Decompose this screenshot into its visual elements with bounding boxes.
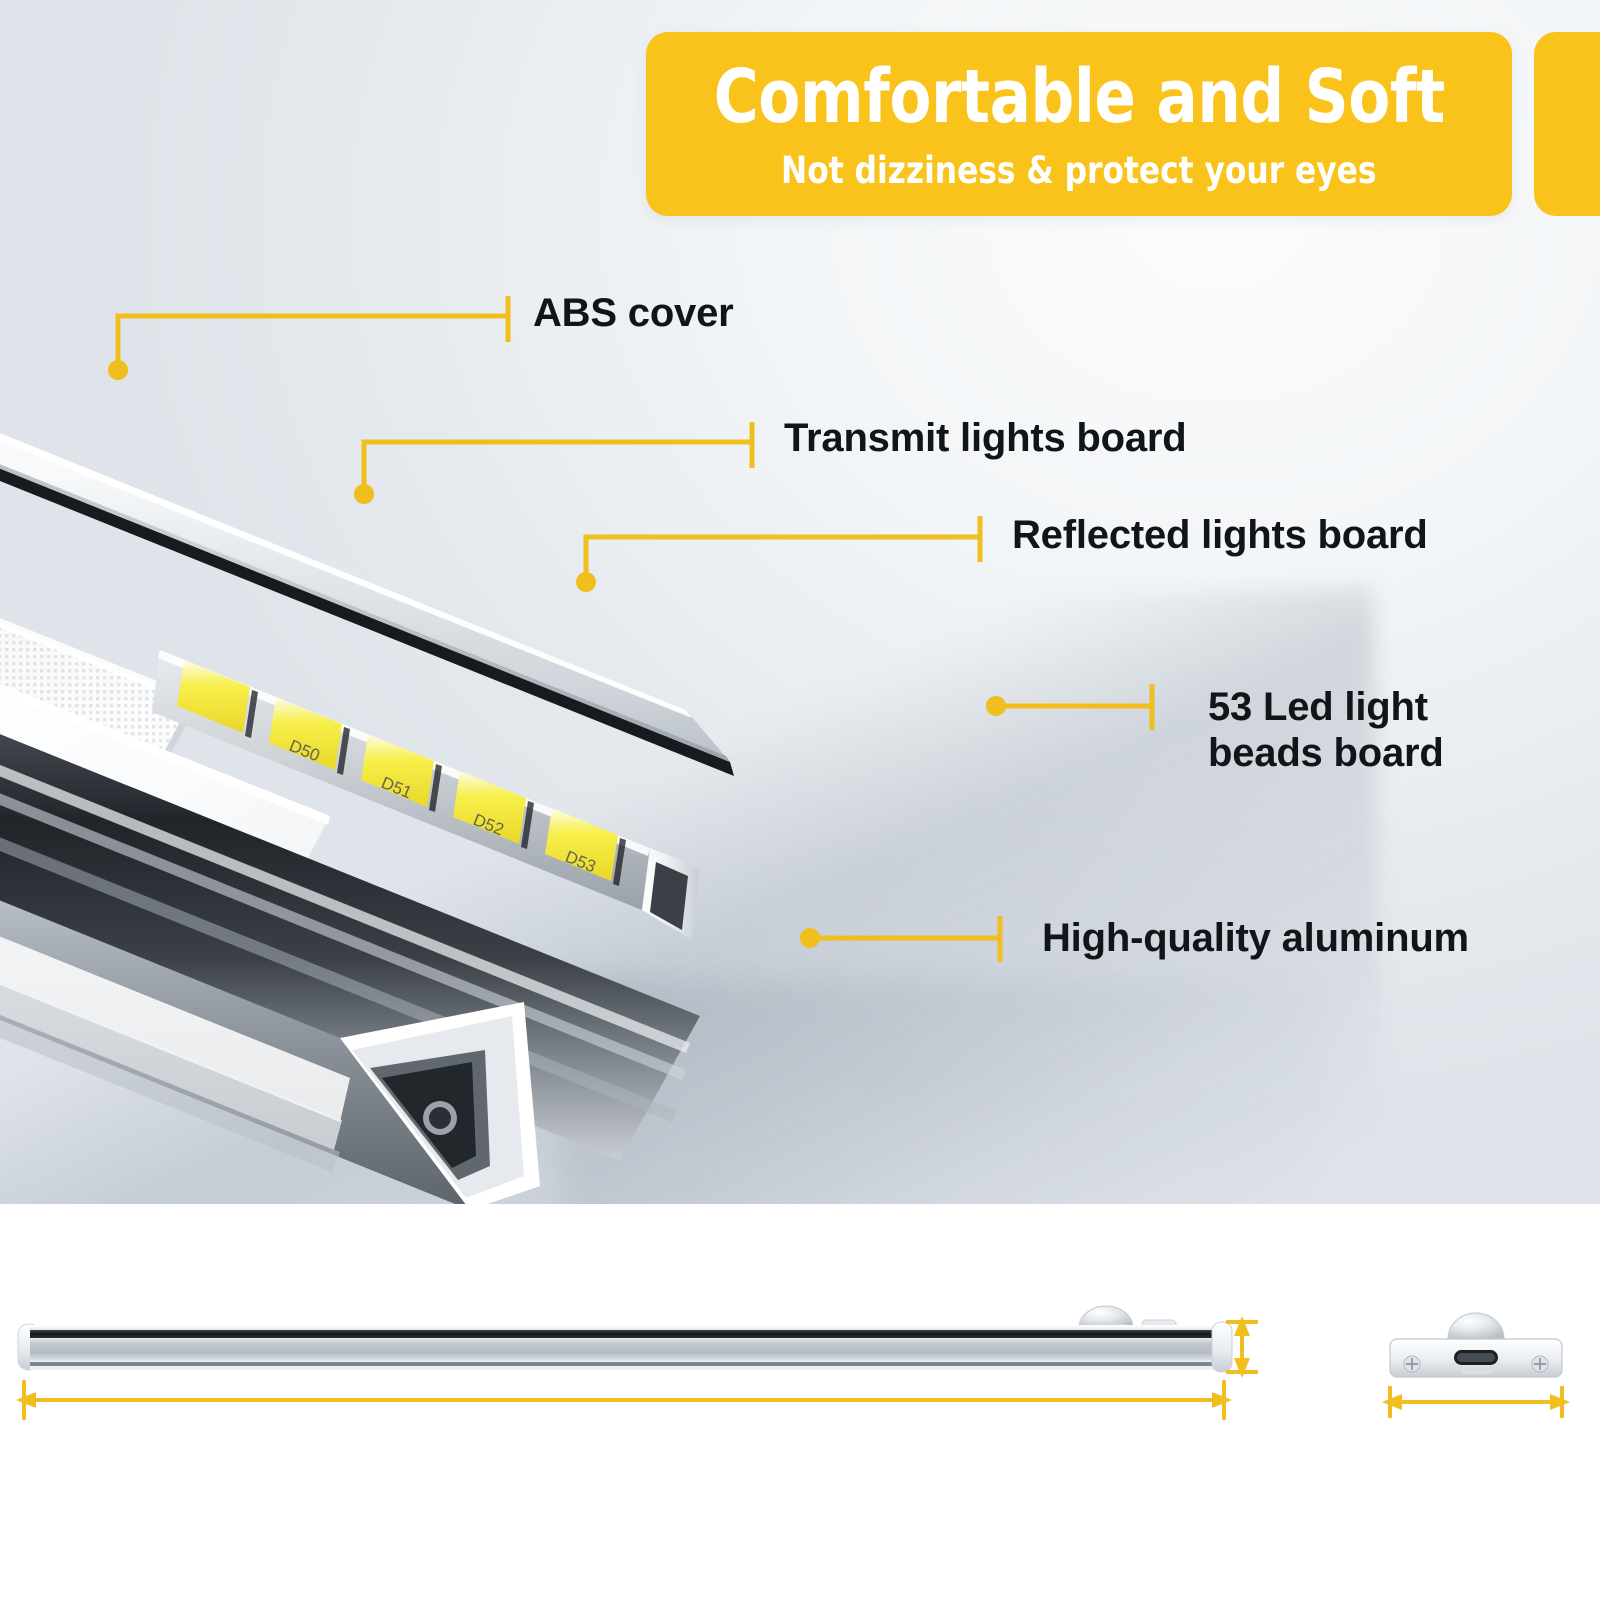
length-dimension: [16, 1380, 1232, 1420]
dimension-drawings: [0, 1204, 1600, 1600]
led-bar-side-profile: [18, 1306, 1232, 1372]
callout-label-reflected-board: Reflected lights board: [1012, 512, 1428, 558]
screw-head-icon: [1532, 1356, 1548, 1372]
dimension-panel: 310mm 40mm 9mm: [0, 1204, 1600, 1600]
dimension-arrow-icon: [1234, 1358, 1250, 1378]
callout-label-transmit-board: Transmit lights board: [784, 415, 1187, 461]
width-dimension: [1382, 1386, 1570, 1418]
next-banner-partial: [1534, 32, 1600, 216]
headline-banner: Comfortable and Soft Not dizziness & pro…: [646, 32, 1512, 216]
headline-title: Comfortable and Soft: [713, 60, 1444, 134]
infographic-canvas: D50 D51 D52: [0, 0, 1600, 1600]
headline-subtitle: Not dizziness & protect your eyes: [781, 152, 1377, 189]
screw-head-icon: [1404, 1356, 1420, 1372]
end-cap-front-view: [1390, 1313, 1562, 1377]
product-detail-panel: D50 D51 D52: [0, 0, 1600, 1204]
callout-label-aluminum: High-quality aluminum: [1042, 915, 1469, 961]
dimension-arrow-icon: [1234, 1316, 1250, 1336]
callout-label-led-beads-board: 53 Led light beads board: [1208, 684, 1444, 777]
callout-label-abs-cover: ABS cover: [533, 290, 734, 336]
